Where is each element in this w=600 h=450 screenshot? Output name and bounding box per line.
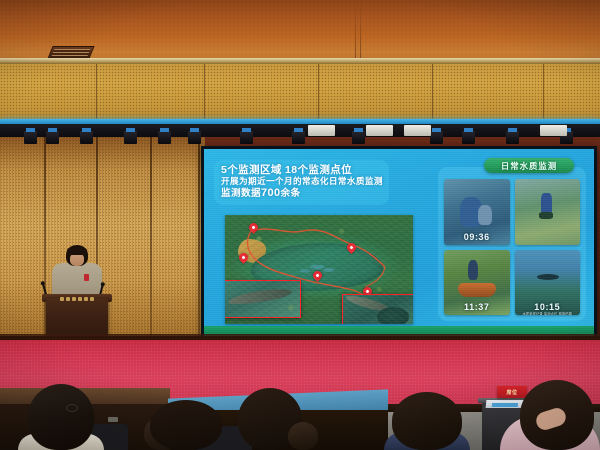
map-inset-right[interactable] bbox=[342, 294, 413, 324]
map-pin[interactable] bbox=[313, 271, 322, 283]
presentation-slide[interactable]: 5个监测区域 18个监测点位 开展为期近一个月的常态化日常水质监测 监测数据70… bbox=[204, 149, 594, 336]
truss-panel-light bbox=[540, 125, 567, 136]
stage-light bbox=[462, 131, 475, 144]
headline-prefix: 监测数据 bbox=[221, 188, 261, 199]
photo-timestamp: 09:36 bbox=[444, 232, 510, 242]
photo-grid: 09:36 11:37 10:15 水质 bbox=[444, 179, 580, 315]
stage-light bbox=[188, 131, 201, 144]
stage-light bbox=[292, 131, 305, 144]
stage-light bbox=[24, 131, 37, 144]
led-screen-bezel: 5个监测区域 18个监测点位 开展为期近一个月的常态化日常水质监测 监测数据70… bbox=[201, 146, 597, 338]
ceiling bbox=[0, 0, 600, 66]
stage-light bbox=[240, 131, 253, 144]
truss-panel-light bbox=[404, 125, 431, 136]
desk-nameplate: 席位 bbox=[497, 386, 527, 398]
map-route-line bbox=[225, 215, 413, 324]
map-pin[interactable] bbox=[347, 243, 356, 255]
photo-thumbnail[interactable] bbox=[515, 179, 581, 245]
seat-marker bbox=[108, 417, 118, 422]
photo-panel-title: 日常水质监测 bbox=[501, 160, 557, 172]
conference-hall-scene: 5个监测区域 18个监测点位 开展为期近一个月的常态化日常水质监测 监测数据70… bbox=[0, 0, 600, 450]
map-shoreline bbox=[238, 239, 266, 263]
headline-suffix: 余条 bbox=[281, 188, 301, 199]
cornice-strip bbox=[0, 58, 600, 64]
eyeglasses-icon bbox=[66, 404, 78, 412]
presenter-hair bbox=[67, 246, 87, 255]
truss-panel-light bbox=[366, 125, 393, 136]
photo-panel: 日常水质监测 09:36 bbox=[438, 167, 586, 321]
audience-head bbox=[28, 384, 94, 450]
map-inset-left[interactable] bbox=[225, 280, 301, 318]
map-pin[interactable] bbox=[363, 287, 372, 299]
audience-head bbox=[150, 400, 222, 450]
presenter-badge bbox=[84, 274, 89, 281]
headline-line-3: 监测数据700余条 bbox=[221, 187, 383, 200]
map-pin[interactable] bbox=[249, 223, 258, 235]
stage-light bbox=[158, 131, 171, 144]
stage-light bbox=[80, 131, 93, 144]
map-lake bbox=[251, 243, 383, 291]
stage-light bbox=[46, 131, 59, 144]
photo-thumbnail[interactable]: 11:37 bbox=[444, 250, 510, 316]
photo-thumbnail[interactable]: 10:15 水质采样记录 监测点位 现场拍摄 bbox=[515, 250, 581, 316]
stage-light bbox=[506, 131, 519, 144]
photo-thumbnail[interactable]: 09:36 bbox=[444, 179, 510, 245]
headline-number: 700 bbox=[261, 187, 281, 199]
headline-line-2: 开展为期近一个月的常态化日常水质监测 bbox=[221, 176, 383, 187]
slide-headline: 5个监测区域 18个监测点位 开展为期近一个月的常态化日常水质监测 监测数据70… bbox=[214, 160, 389, 205]
podium-nameplate bbox=[52, 296, 102, 301]
nameplate-label: 席位 bbox=[506, 389, 517, 396]
upper-wall-panels bbox=[0, 62, 600, 122]
photo-timestamp: 11:37 bbox=[444, 302, 510, 312]
headline-line-1: 5个监测区域 18个监测点位 bbox=[221, 164, 383, 176]
stage-lip bbox=[0, 336, 600, 340]
photo-caption: 水质采样记录 监测点位 现场拍摄 bbox=[515, 311, 581, 315]
photo-panel-header: 日常水质监测 bbox=[484, 158, 574, 173]
stage-light bbox=[430, 131, 443, 144]
audience-head bbox=[288, 422, 318, 450]
audience-head bbox=[392, 392, 462, 450]
monitoring-map[interactable] bbox=[225, 215, 413, 324]
stage-light bbox=[124, 131, 137, 144]
stage-light bbox=[352, 131, 365, 144]
truss-panel-light bbox=[308, 125, 335, 136]
map-pin[interactable] bbox=[239, 253, 248, 265]
